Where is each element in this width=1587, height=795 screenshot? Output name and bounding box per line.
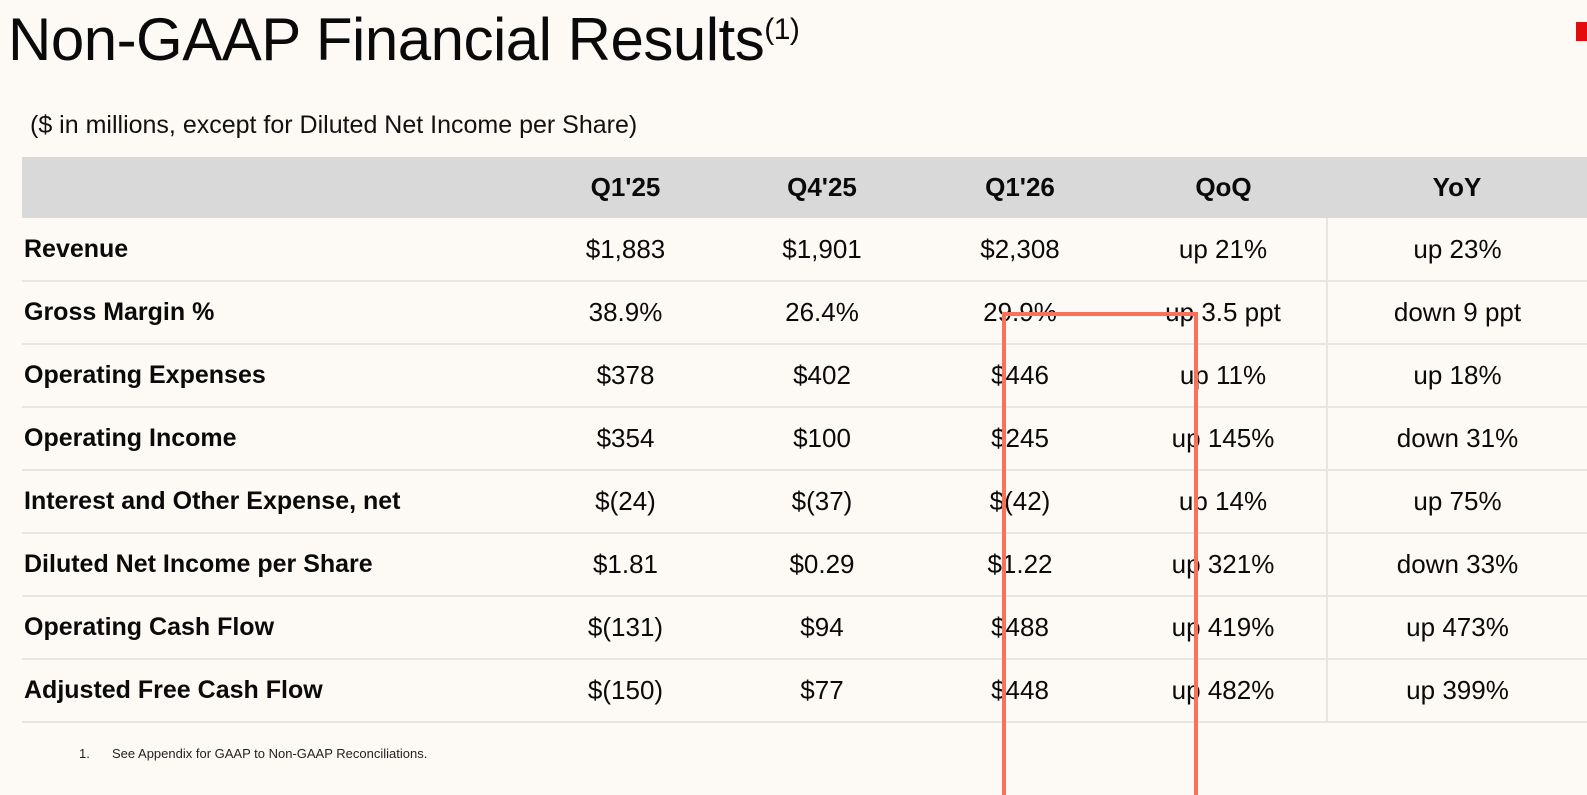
financial-results-table-wrapper: Q1'25 Q4'25 Q1'26 QoQ YoY Revenue$1,883$… [22, 157, 1587, 723]
column-header-metric [22, 157, 527, 218]
row-label: Gross Margin % [22, 281, 527, 344]
cell-qoq: up 14% [1120, 470, 1327, 533]
cell-yoy: up 399% [1327, 659, 1587, 722]
row-label: Revenue [22, 218, 527, 281]
row-label: Diluted Net Income per Share [22, 533, 527, 596]
cell-q1-26: $1.22 [920, 533, 1120, 596]
cell-qoq: up 11% [1120, 344, 1327, 407]
cell-qoq: up 21% [1120, 218, 1327, 281]
table-row: Gross Margin %38.9%26.4%29.9%up 3.5 pptd… [22, 281, 1587, 344]
cell-yoy: down 9 ppt [1327, 281, 1587, 344]
cell-q1-26: $488 [920, 596, 1120, 659]
table-row: Interest and Other Expense, net$(24)$(37… [22, 470, 1587, 533]
cell-q4-25: $(37) [724, 470, 920, 533]
cell-q1-26: $245 [920, 407, 1120, 470]
slide-root: Non-GAAP Financial Results(1) ($ in mill… [0, 0, 1587, 795]
cell-q1-26: $446 [920, 344, 1120, 407]
cell-q1-25: $(131) [527, 596, 724, 659]
page-title: Non-GAAP Financial Results(1) [8, 8, 799, 73]
footnote-text: See Appendix for GAAP to Non-GAAP Reconc… [112, 746, 427, 761]
cell-q4-25: 26.4% [724, 281, 920, 344]
cell-q1-26: $2,308 [920, 218, 1120, 281]
cell-qoq: up 482% [1120, 659, 1327, 722]
table-row: Revenue$1,883$1,901$2,308up 21%up 23% [22, 218, 1587, 281]
cell-q1-25: $378 [527, 344, 724, 407]
page-subtitle: ($ in millions, except for Diluted Net I… [30, 111, 637, 140]
column-header-yoy: YoY [1327, 157, 1587, 218]
table-header: Q1'25 Q4'25 Q1'26 QoQ YoY [22, 157, 1587, 218]
cell-q1-26: $(42) [920, 470, 1120, 533]
row-label: Adjusted Free Cash Flow [22, 659, 527, 722]
column-header-q1-25: Q1'25 [527, 157, 724, 218]
cell-yoy: down 33% [1327, 533, 1587, 596]
brand-accent-mark-icon [1576, 22, 1587, 41]
footnote: 1.See Appendix for GAAP to Non-GAAP Reco… [79, 746, 427, 761]
page-title-text: Non-GAAP Financial Results [8, 6, 764, 73]
cell-q1-25: $(24) [527, 470, 724, 533]
cell-qoq: up 321% [1120, 533, 1327, 596]
footnote-number: 1. [79, 746, 112, 761]
cell-yoy: up 23% [1327, 218, 1587, 281]
cell-yoy: up 18% [1327, 344, 1587, 407]
cell-qoq: up 145% [1120, 407, 1327, 470]
cell-qoq: up 3.5 ppt [1120, 281, 1327, 344]
table-row: Operating Cash Flow$(131)$94$488up 419%u… [22, 596, 1587, 659]
row-label: Interest and Other Expense, net [22, 470, 527, 533]
cell-q4-25: $0.29 [724, 533, 920, 596]
row-label: Operating Income [22, 407, 527, 470]
cell-q1-25: $1,883 [527, 218, 724, 281]
cell-q4-25: $100 [724, 407, 920, 470]
column-header-qoq: QoQ [1120, 157, 1327, 218]
table-row: Diluted Net Income per Share$1.81$0.29$1… [22, 533, 1587, 596]
table-row: Operating Income$354$100$245up 145%down … [22, 407, 1587, 470]
cell-q1-25: $(150) [527, 659, 724, 722]
cell-yoy: up 75% [1327, 470, 1587, 533]
cell-q1-25: $1.81 [527, 533, 724, 596]
cell-q4-25: $402 [724, 344, 920, 407]
cell-q1-25: 38.9% [527, 281, 724, 344]
row-label: Operating Expenses [22, 344, 527, 407]
cell-q1-25: $354 [527, 407, 724, 470]
row-label: Operating Cash Flow [22, 596, 527, 659]
table-row: Adjusted Free Cash Flow$(150)$77$448up 4… [22, 659, 1587, 722]
cell-q1-26: 29.9% [920, 281, 1120, 344]
cell-yoy: down 31% [1327, 407, 1587, 470]
cell-q4-25: $77 [724, 659, 920, 722]
cell-q4-25: $94 [724, 596, 920, 659]
cell-q1-26: $448 [920, 659, 1120, 722]
cell-q4-25: $1,901 [724, 218, 920, 281]
table-row: Operating Expenses$378$402$446up 11%up 1… [22, 344, 1587, 407]
column-header-q4-25: Q4'25 [724, 157, 920, 218]
table-header-row: Q1'25 Q4'25 Q1'26 QoQ YoY [22, 157, 1587, 218]
table-body: Revenue$1,883$1,901$2,308up 21%up 23%Gro… [22, 218, 1587, 722]
cell-qoq: up 419% [1120, 596, 1327, 659]
page-title-footnote-ref: (1) [764, 13, 799, 46]
cell-yoy: up 473% [1327, 596, 1587, 659]
financial-results-table: Q1'25 Q4'25 Q1'26 QoQ YoY Revenue$1,883$… [22, 157, 1587, 723]
column-header-q1-26: Q1'26 [920, 157, 1120, 218]
